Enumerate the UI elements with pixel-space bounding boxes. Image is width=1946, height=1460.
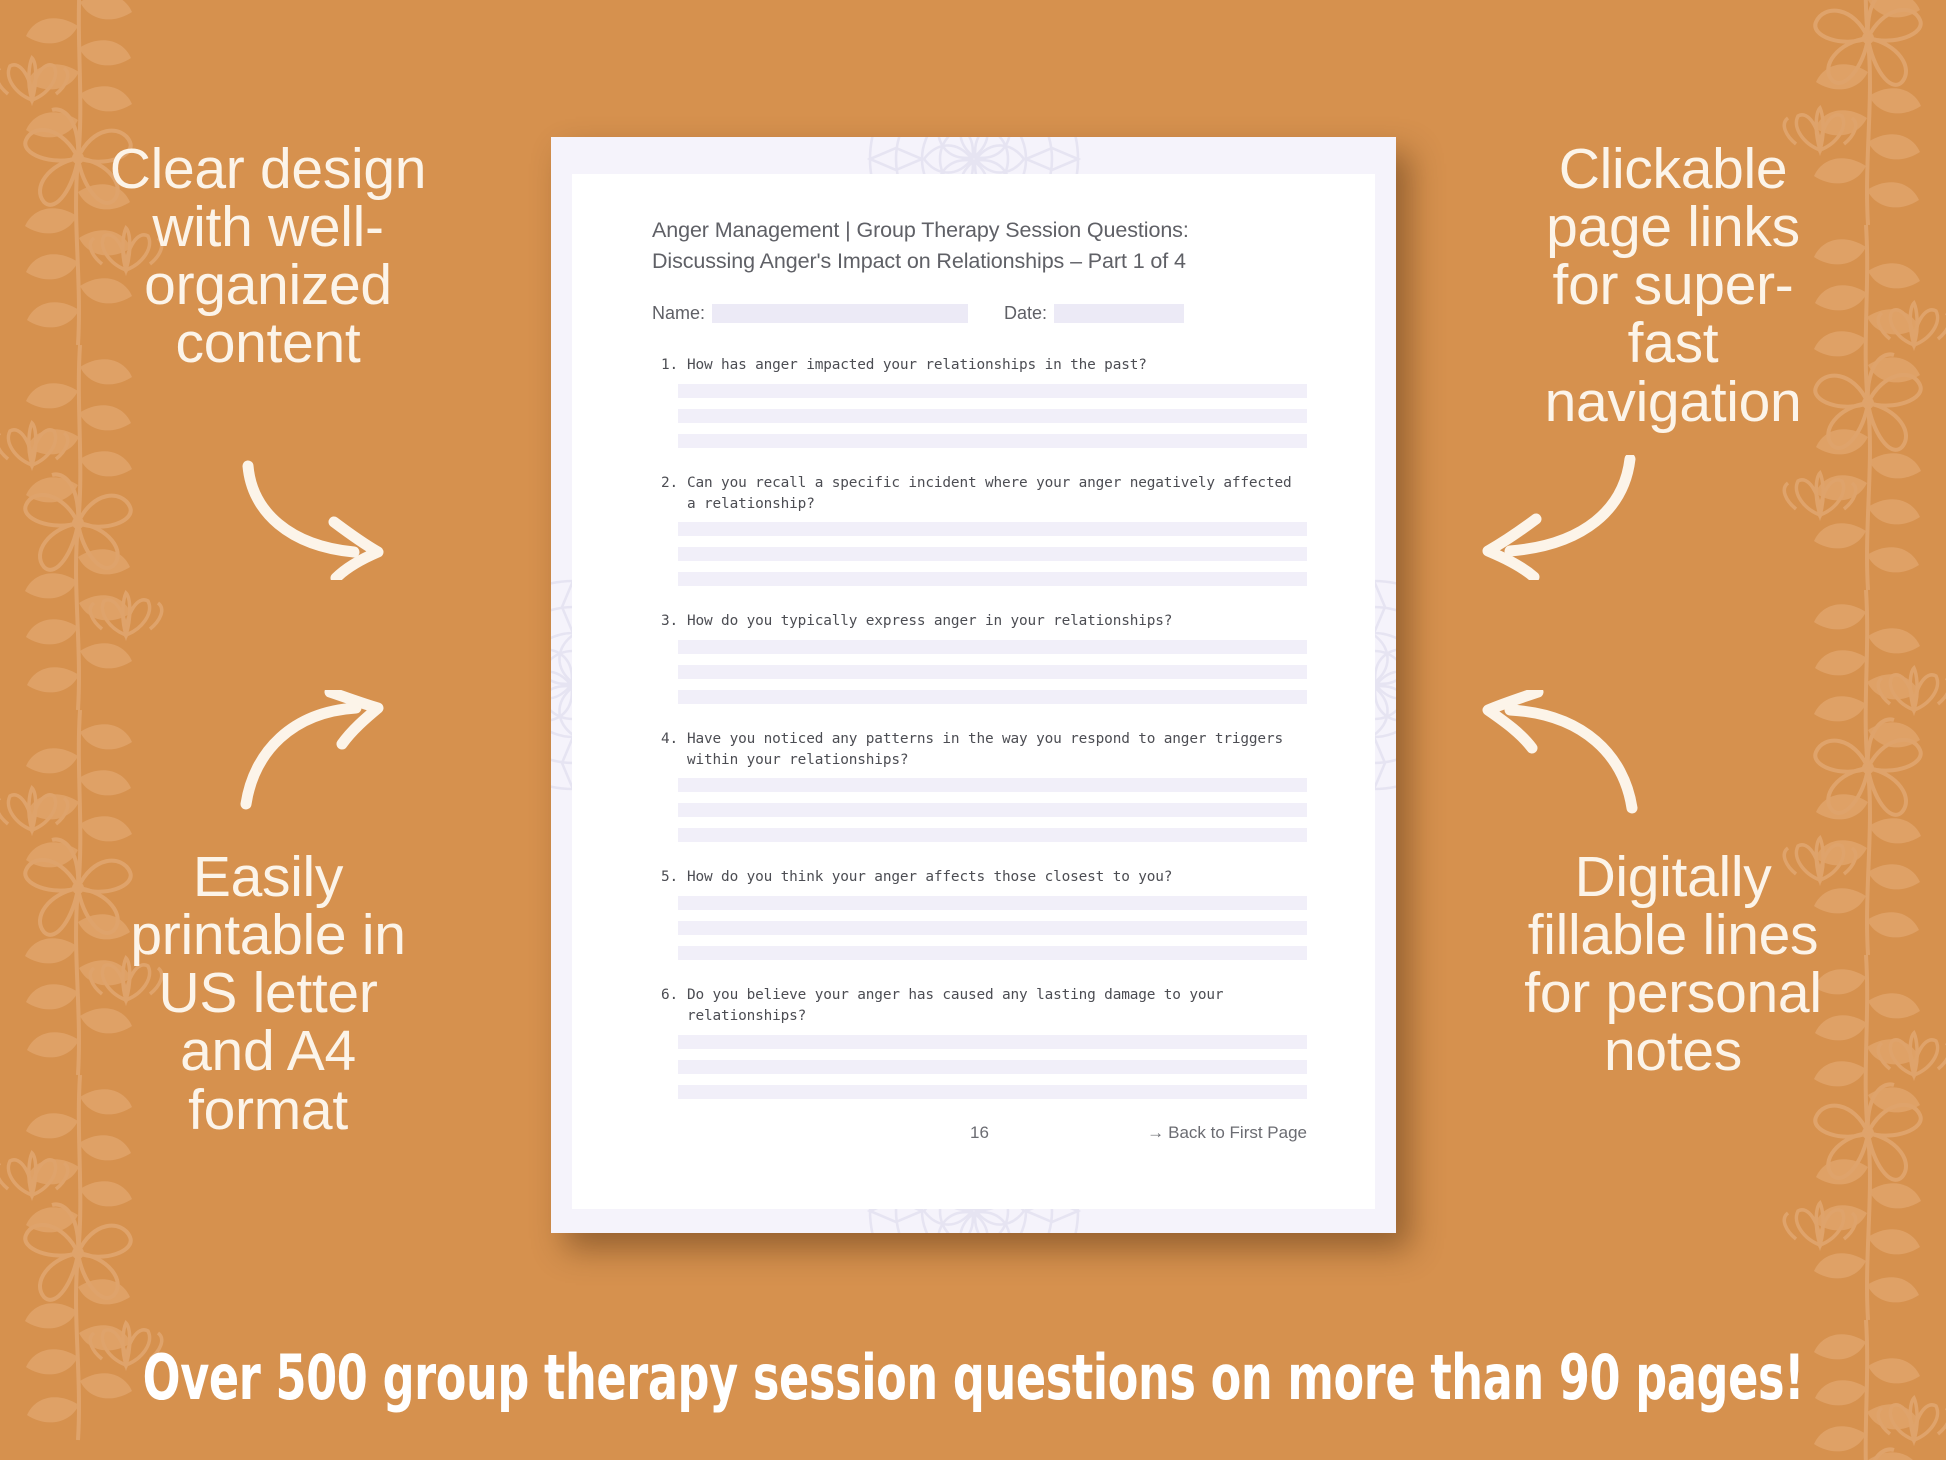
curved-arrow-right-icon xyxy=(238,460,388,580)
question-number: 6. xyxy=(652,985,687,1026)
promo-text-top-right: Clickable page links for super-fast navi… xyxy=(1508,140,1838,431)
curved-arrow-left-up-icon xyxy=(1480,690,1640,815)
answer-line[interactable] xyxy=(678,409,1307,423)
question-list: 1. How has anger impacted your relations… xyxy=(652,355,1307,1099)
back-to-first-page-label: Back to First Page xyxy=(1168,1123,1307,1142)
worksheet-title: Anger Management | Group Therapy Session… xyxy=(652,215,1307,276)
question-item: 3. How do you typically express anger in… xyxy=(652,611,1307,704)
answer-line[interactable] xyxy=(678,665,1307,679)
question-text: Do you believe your anger has caused any… xyxy=(687,985,1307,1026)
answer-lines xyxy=(652,384,1307,448)
worksheet-fields: Name: Date: xyxy=(652,303,1307,324)
answer-line[interactable] xyxy=(678,547,1307,561)
question-text: How has anger impacted your relationship… xyxy=(687,355,1307,376)
answer-lines xyxy=(652,896,1307,960)
question-number: 4. xyxy=(652,729,687,770)
name-field-input[interactable] xyxy=(712,304,968,323)
bottom-banner: Over 500 group therapy session questions… xyxy=(0,1295,1946,1460)
answer-line[interactable] xyxy=(678,690,1307,704)
question-item: 2. Can you recall a specific incident wh… xyxy=(652,473,1307,586)
curved-arrow-left-icon xyxy=(1480,455,1640,580)
answer-line[interactable] xyxy=(678,946,1307,960)
answer-line[interactable] xyxy=(678,1085,1307,1099)
answer-line[interactable] xyxy=(678,1060,1307,1074)
answer-line[interactable] xyxy=(678,1035,1307,1049)
arrow-right-icon: → xyxy=(1147,1123,1164,1142)
answer-line[interactable] xyxy=(678,522,1307,536)
question-number: 1. xyxy=(652,355,687,376)
question-item: 1. How has anger impacted your relations… xyxy=(652,355,1307,448)
bottom-banner-text: Over 500 group therapy session questions… xyxy=(142,1341,1803,1414)
worksheet-title-line-2: Discussing Anger's Impact on Relationshi… xyxy=(652,246,1307,277)
worksheet-sheet: Anger Management | Group Therapy Session… xyxy=(572,174,1375,1209)
question-text: Can you recall a specific incident where… xyxy=(687,473,1307,514)
promo-text-bottom-left: Easily printable in US letter and A4 for… xyxy=(108,848,428,1139)
name-field-label: Name: xyxy=(652,303,705,324)
question-item: 5. How do you think your anger affects t… xyxy=(652,867,1307,960)
promo-text-top-left: Clear design with well-organized content xyxy=(108,140,428,373)
back-to-first-page-link[interactable]: →Back to First Page xyxy=(1147,1123,1307,1143)
question-item: 4. Have you noticed any patterns in the … xyxy=(652,729,1307,842)
promo-text-bottom-right: Digitally fillable lines for personal no… xyxy=(1508,848,1838,1081)
question-item: 6. Do you believe your anger has caused … xyxy=(652,985,1307,1098)
date-field-group[interactable]: Date: xyxy=(1004,303,1184,324)
answer-line[interactable] xyxy=(678,778,1307,792)
question-number: 5. xyxy=(652,867,687,888)
answer-line[interactable] xyxy=(678,384,1307,398)
name-field-group[interactable]: Name: xyxy=(652,303,968,324)
question-text: Have you noticed any patterns in the way… xyxy=(687,729,1307,770)
document-preview[interactable]: Anger Management | Group Therapy Session… xyxy=(551,137,1396,1233)
page-number: 16 xyxy=(970,1123,989,1143)
worksheet-page: Anger Management | Group Therapy Session… xyxy=(551,137,1396,1233)
question-text: How do you think your anger affects thos… xyxy=(687,867,1307,888)
promo-graphic: Clear design with well-organized content… xyxy=(0,0,1946,1460)
question-text: How do you typically express anger in yo… xyxy=(687,611,1307,632)
answer-lines xyxy=(652,522,1307,586)
answer-line[interactable] xyxy=(678,896,1307,910)
worksheet-footer: 16 →Back to First Page xyxy=(652,1123,1307,1143)
answer-line[interactable] xyxy=(678,640,1307,654)
question-number: 2. xyxy=(652,473,687,514)
answer-line[interactable] xyxy=(678,572,1307,586)
answer-line[interactable] xyxy=(678,828,1307,842)
date-field-input[interactable] xyxy=(1054,304,1184,323)
date-field-label: Date: xyxy=(1004,303,1047,324)
worksheet-title-line-1: Anger Management | Group Therapy Session… xyxy=(652,215,1307,246)
answer-line[interactable] xyxy=(678,921,1307,935)
question-number: 3. xyxy=(652,611,687,632)
answer-lines xyxy=(652,640,1307,704)
answer-lines xyxy=(652,778,1307,842)
answer-line[interactable] xyxy=(678,434,1307,448)
curved-arrow-right-up-icon xyxy=(238,690,388,810)
answer-line[interactable] xyxy=(678,803,1307,817)
answer-lines xyxy=(652,1035,1307,1099)
